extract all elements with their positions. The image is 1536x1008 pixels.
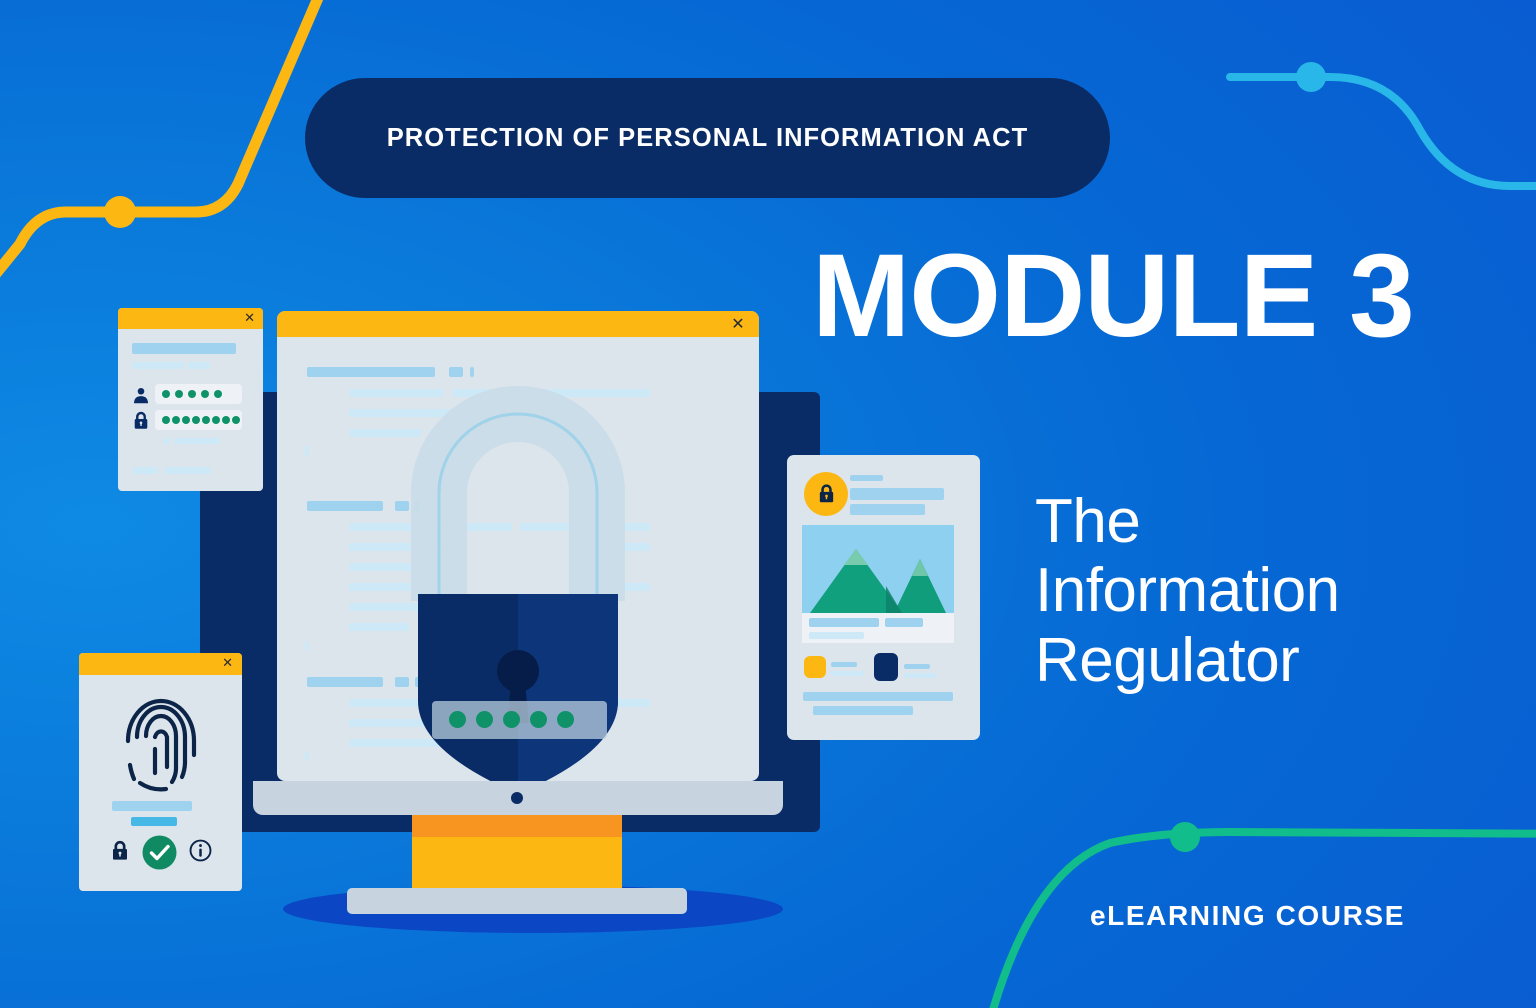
info-circle-icon (189, 839, 212, 862)
text-line (850, 475, 883, 481)
text-line (174, 438, 220, 444)
text-line (850, 488, 944, 500)
text-line (131, 817, 177, 826)
input-dot (201, 390, 209, 398)
input-dot (222, 416, 230, 424)
text-line (831, 671, 864, 676)
subtitle-line-1: The (1035, 487, 1340, 556)
fingerprint-card: ✕ (79, 653, 242, 891)
input-dot (175, 390, 183, 398)
text-line (809, 632, 864, 639)
primary-action-button[interactable] (804, 656, 826, 678)
text-line (165, 467, 211, 474)
user-icon (132, 386, 150, 404)
article-card (787, 455, 980, 740)
text-line (813, 706, 913, 715)
text-line (163, 438, 170, 444)
input-dot (172, 416, 180, 424)
security-illustration: ✕ (0, 0, 1010, 1008)
monitor-base (347, 888, 687, 914)
close-icon[interactable]: ✕ (244, 311, 255, 326)
input-dot (188, 390, 196, 398)
subtitle-line-2: Information (1035, 556, 1340, 625)
text-line (904, 673, 937, 678)
page-subtitle: The Information Regulator (1035, 487, 1340, 695)
text-line (132, 467, 158, 474)
course-type-label: eLEARNING COURSE (1090, 900, 1405, 932)
input-dot (182, 416, 190, 424)
text-line (885, 618, 923, 627)
window-title-bar (118, 308, 263, 329)
input-dot (212, 416, 220, 424)
input-dot (192, 416, 200, 424)
check-circle-icon (142, 835, 177, 870)
text-line (132, 343, 236, 354)
text-line (831, 662, 857, 667)
secondary-action-button[interactable] (874, 653, 898, 681)
subtitle-line-3: Regulator (1035, 626, 1340, 695)
text-line (809, 618, 879, 627)
text-line (904, 664, 930, 669)
article-image (802, 525, 954, 613)
close-icon[interactable]: ✕ (222, 656, 233, 671)
text-line (850, 504, 925, 515)
input-dot (232, 416, 240, 424)
password-dot (503, 711, 520, 728)
text-line (803, 692, 953, 701)
text-line (188, 362, 210, 369)
password-dot (557, 711, 574, 728)
lock-icon (817, 483, 836, 504)
password-dot (476, 711, 493, 728)
monitor-stand-top (412, 815, 622, 837)
poster-canvas: PROTECTION OF PERSONAL INFORMATION ACT M… (0, 0, 1536, 1008)
login-card: ✕ (118, 308, 263, 491)
lock-icon (110, 840, 130, 861)
input-dot (162, 416, 170, 424)
input-dot (214, 390, 222, 398)
input-dot (162, 390, 170, 398)
monitor-power-indicator (511, 792, 523, 804)
input-dot (202, 416, 210, 424)
mountain-illustration (802, 525, 954, 613)
text-line (112, 801, 192, 811)
window-title-bar (79, 653, 242, 675)
lock-icon (132, 411, 150, 430)
monitor-screen-window: ✕ (277, 311, 759, 781)
text-line (132, 362, 184, 369)
fingerprint-icon (120, 689, 202, 794)
password-dot (530, 711, 547, 728)
password-dot (449, 711, 466, 728)
